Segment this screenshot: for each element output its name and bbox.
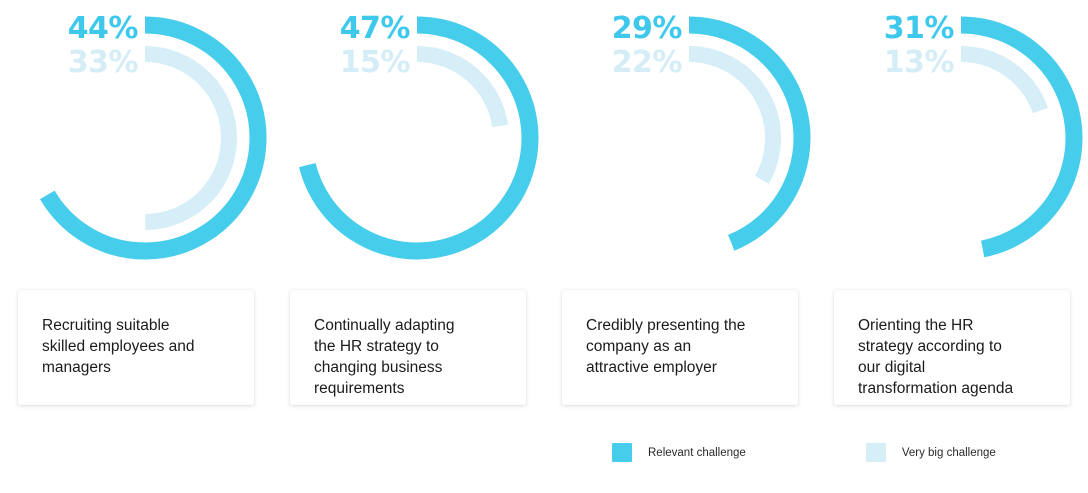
gauge-row: 44% 33% 47% 15% 29% 22% [0,0,1088,285]
challenge-card-text-0: Recruiting suitable skilled employees an… [42,316,236,379]
challenge-card-text-2: Credibly presenting the company as an at… [586,316,780,379]
challenge-card-0[interactable]: Recruiting suitable skilled employees an… [18,290,254,405]
gauge-chart-figure: 44% 33% 47% 15% 29% 22% [0,0,1088,493]
legend-label-very-big: Very big challenge [902,447,996,459]
legend-swatch-icon-very-big [866,443,886,462]
gauge-arcs-0 [28,8,282,270]
gauge-cell-2: 29% 22% [544,0,816,285]
gauge-inner-arc-0 [145,54,229,222]
legend-item-very-big-challenge[interactable]: Very big challenge [866,443,996,462]
challenge-card-2[interactable]: Credibly presenting the company as an at… [562,290,798,405]
challenge-card-text-3: Orienting the HR strategy according to o… [858,316,1052,400]
gauge-inner-arc-2 [689,54,773,180]
gauge-cell-1: 47% 15% [272,0,544,285]
legend-label-relevant: Relevant challenge [648,447,746,459]
challenge-card-text-1: Continually adapting the HR strategy to … [314,316,508,400]
gauge-arcs-1 [300,8,554,270]
gauge-cell-0: 44% 33% [0,0,272,285]
card-cell-1: Continually adapting the HR strategy to … [272,290,544,410]
legend-item-relevant-challenge[interactable]: Relevant challenge [612,443,746,462]
challenge-card-3[interactable]: Orienting the HR strategy according to o… [834,290,1070,405]
challenge-card-1[interactable]: Continually adapting the HR strategy to … [290,290,526,405]
gauge-cell-3: 31% 13% [816,0,1088,285]
card-row: Recruiting suitable skilled employees an… [0,290,1088,410]
gauge-arcs-2 [572,8,826,270]
card-cell-3: Orienting the HR strategy according to o… [816,290,1088,410]
gauge-arcs-3 [844,8,1088,270]
chart-legend: Relevant challenge Very big challenge [612,443,996,462]
legend-swatch-icon-relevant [612,443,632,462]
gauge-inner-arc-1 [417,54,500,126]
card-cell-2: Credibly presenting the company as an at… [544,290,816,410]
gauge-inner-arc-3 [961,54,1040,110]
card-cell-0: Recruiting suitable skilled employees an… [0,290,272,410]
